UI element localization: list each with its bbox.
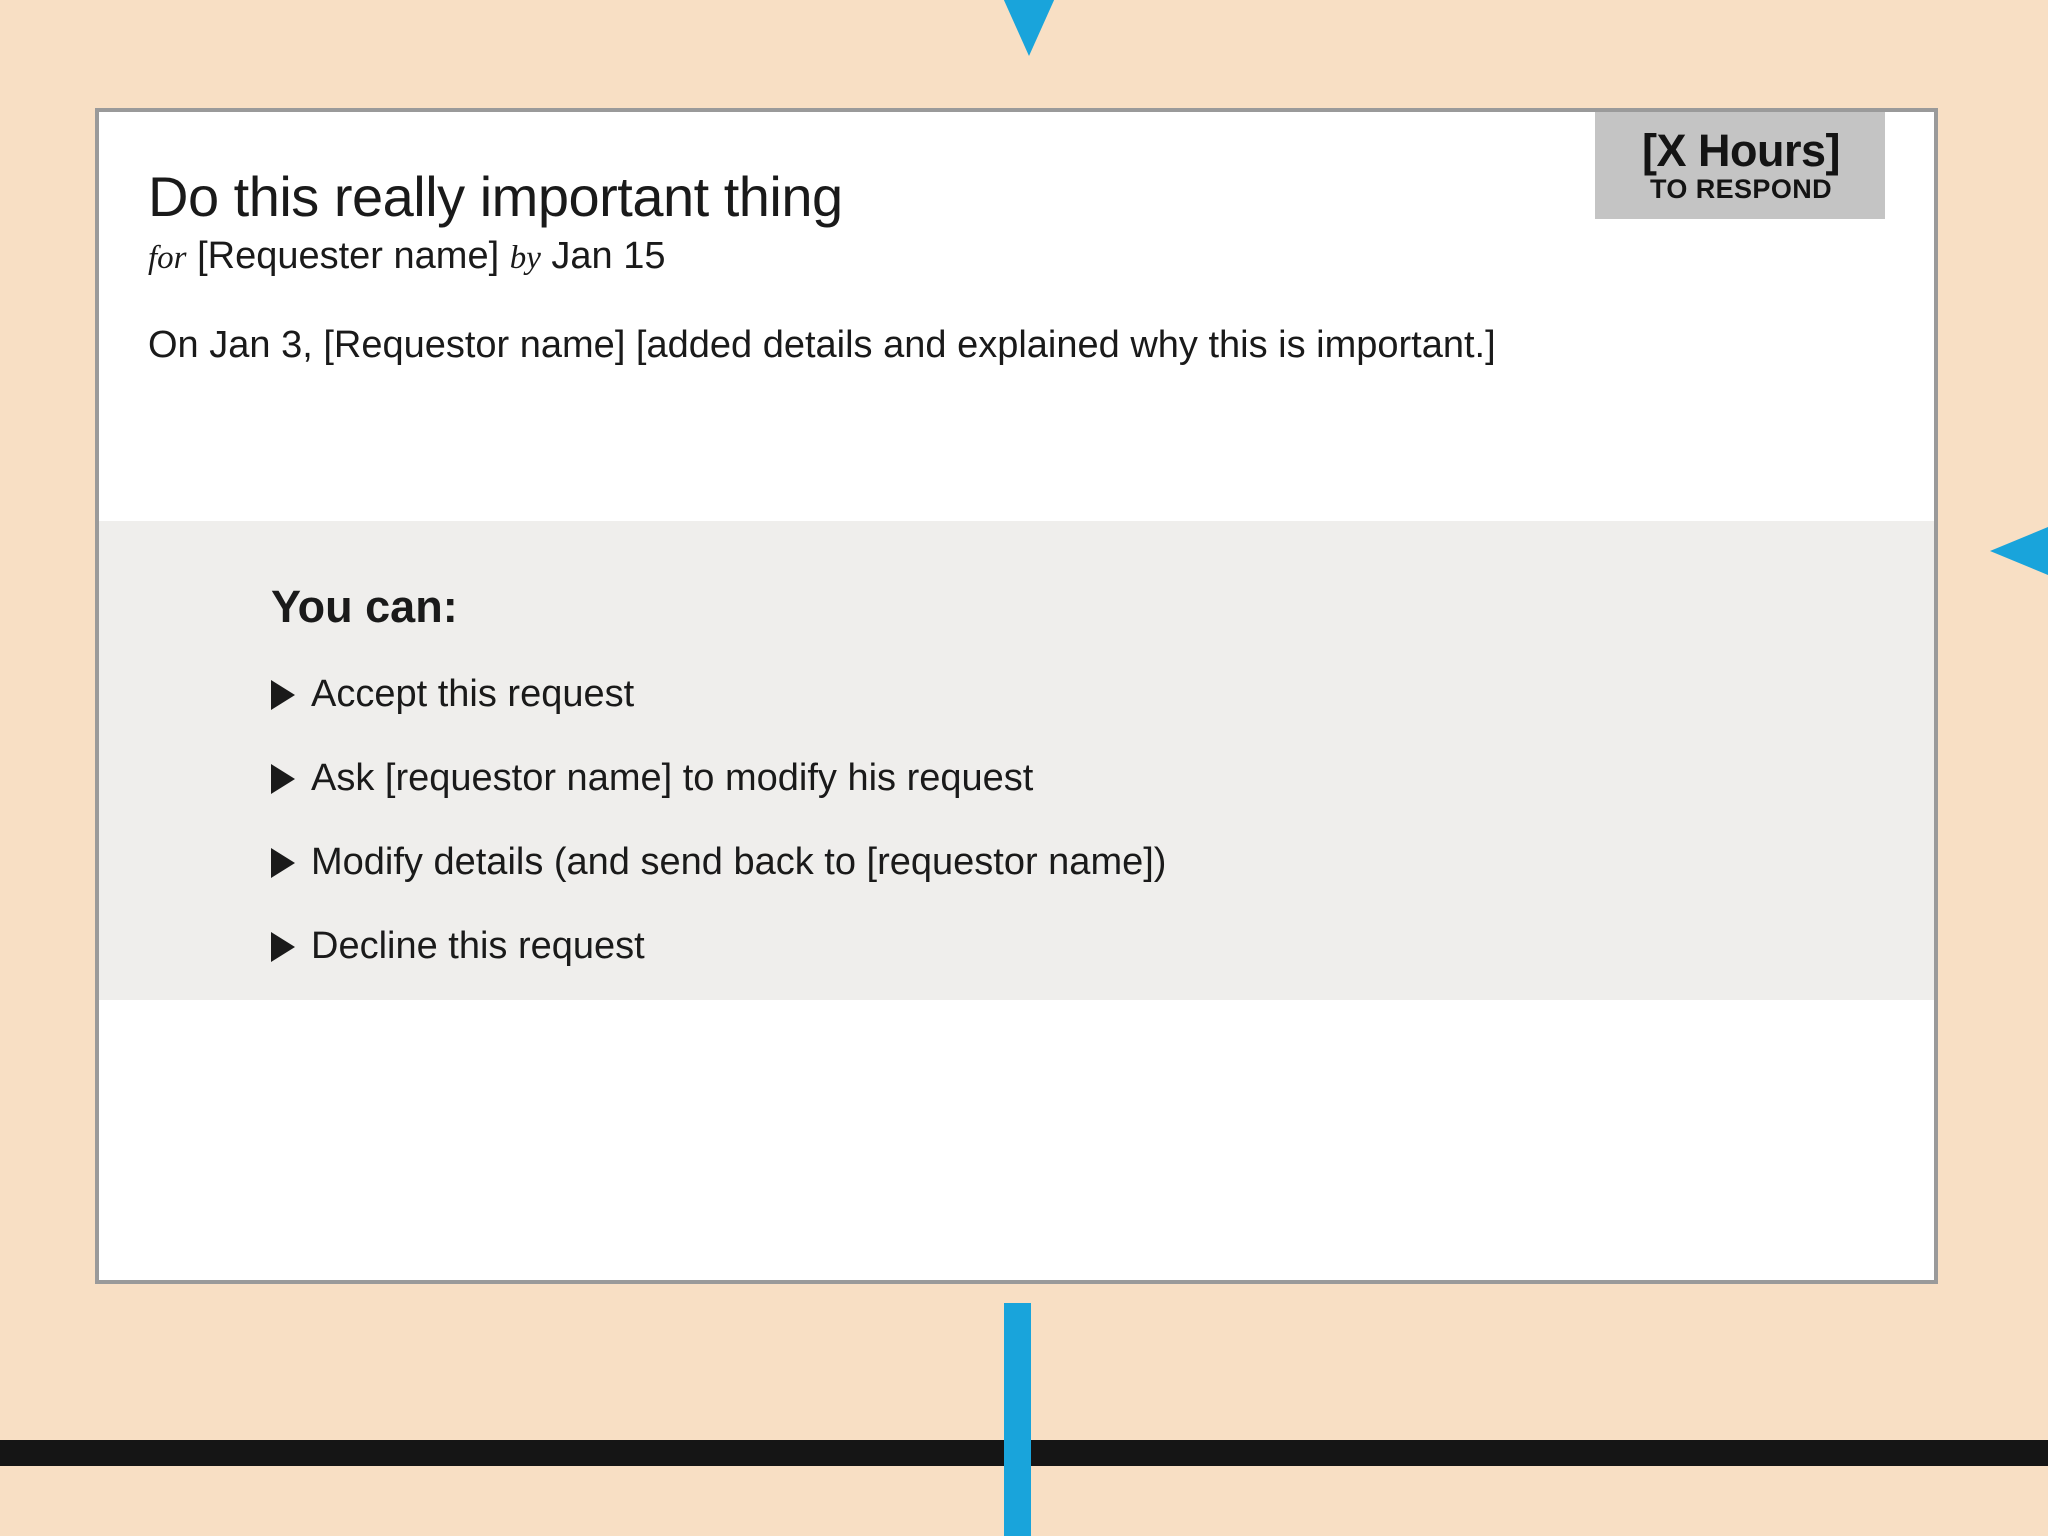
- list-item-label: Accept this request: [311, 673, 634, 716]
- badge-hours-value: [X Hours]: [1613, 128, 1869, 173]
- arrow-left-icon: [1990, 527, 2048, 575]
- triangle-right-icon: [271, 848, 295, 878]
- card-header-section: Do this really important thing for [Requ…: [99, 112, 1934, 521]
- list-item-label: Modify details (and send back to [reques…: [311, 841, 1166, 884]
- subtitle-requester-name: [Requester name]: [197, 235, 499, 277]
- slide-canvas: Do this really important thing for [Requ…: [0, 0, 2048, 1536]
- list-item-label: Decline this request: [311, 925, 645, 968]
- subtitle-for-label: for: [148, 240, 187, 276]
- options-list: Accept this request Ask [requestor name]…: [271, 673, 1166, 1009]
- list-item-label: Ask [requestor name] to modify his reque…: [311, 757, 1033, 800]
- subtitle-by-label: by: [510, 240, 541, 276]
- options-heading: You can:: [271, 581, 458, 633]
- list-item[interactable]: Accept this request: [271, 673, 1166, 757]
- list-item[interactable]: Ask [requestor name] to modify his reque…: [271, 757, 1166, 841]
- list-item[interactable]: Modify details (and send back to [reques…: [271, 841, 1166, 925]
- page-title: Do this really important thing: [148, 164, 843, 229]
- request-card: Do this really important thing for [Requ…: [95, 108, 1938, 1284]
- status-badge: [X Hours] TO RESPOND: [1595, 112, 1885, 219]
- card-subtitle: for [Requester name] by Jan 15: [148, 235, 666, 278]
- triangle-right-icon: [271, 764, 295, 794]
- triangle-right-icon: [271, 932, 295, 962]
- badge-caption: TO RESPOND: [1613, 175, 1869, 205]
- subtitle-due-date: Jan 15: [551, 235, 665, 277]
- connector-bar: [1004, 1303, 1031, 1536]
- list-item[interactable]: Decline this request: [271, 925, 1166, 1009]
- triangle-right-icon: [271, 680, 295, 710]
- arrow-down-icon: [1003, 0, 1055, 56]
- options-section: You can: Accept this request Ask [reques…: [99, 521, 1934, 1000]
- request-description: On Jan 3, [Requestor name] [added detail…: [148, 324, 1496, 367]
